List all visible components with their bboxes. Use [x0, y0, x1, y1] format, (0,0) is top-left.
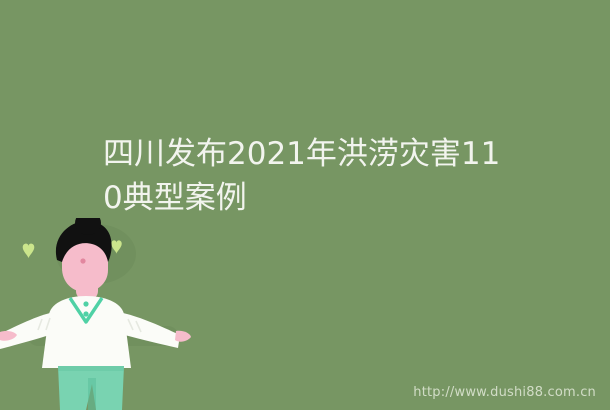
person-illustration — [0, 218, 210, 410]
collar-button-bottom — [83, 311, 88, 316]
source-watermark: http://www.dushi88.com.cn — [413, 385, 596, 400]
collar-button-top — [83, 301, 88, 306]
nose-dot — [80, 258, 85, 263]
screenshot-canvas: 四川发布2021年洪涝灾害110典型案例 — [0, 0, 610, 410]
pants-waist-shadow — [58, 366, 124, 371]
white-sweater — [42, 296, 131, 368]
page-title: 四川发布2021年洪涝灾害110典型案例 — [103, 132, 518, 220]
pants-shadow — [88, 378, 96, 410]
right-hand — [175, 331, 191, 342]
